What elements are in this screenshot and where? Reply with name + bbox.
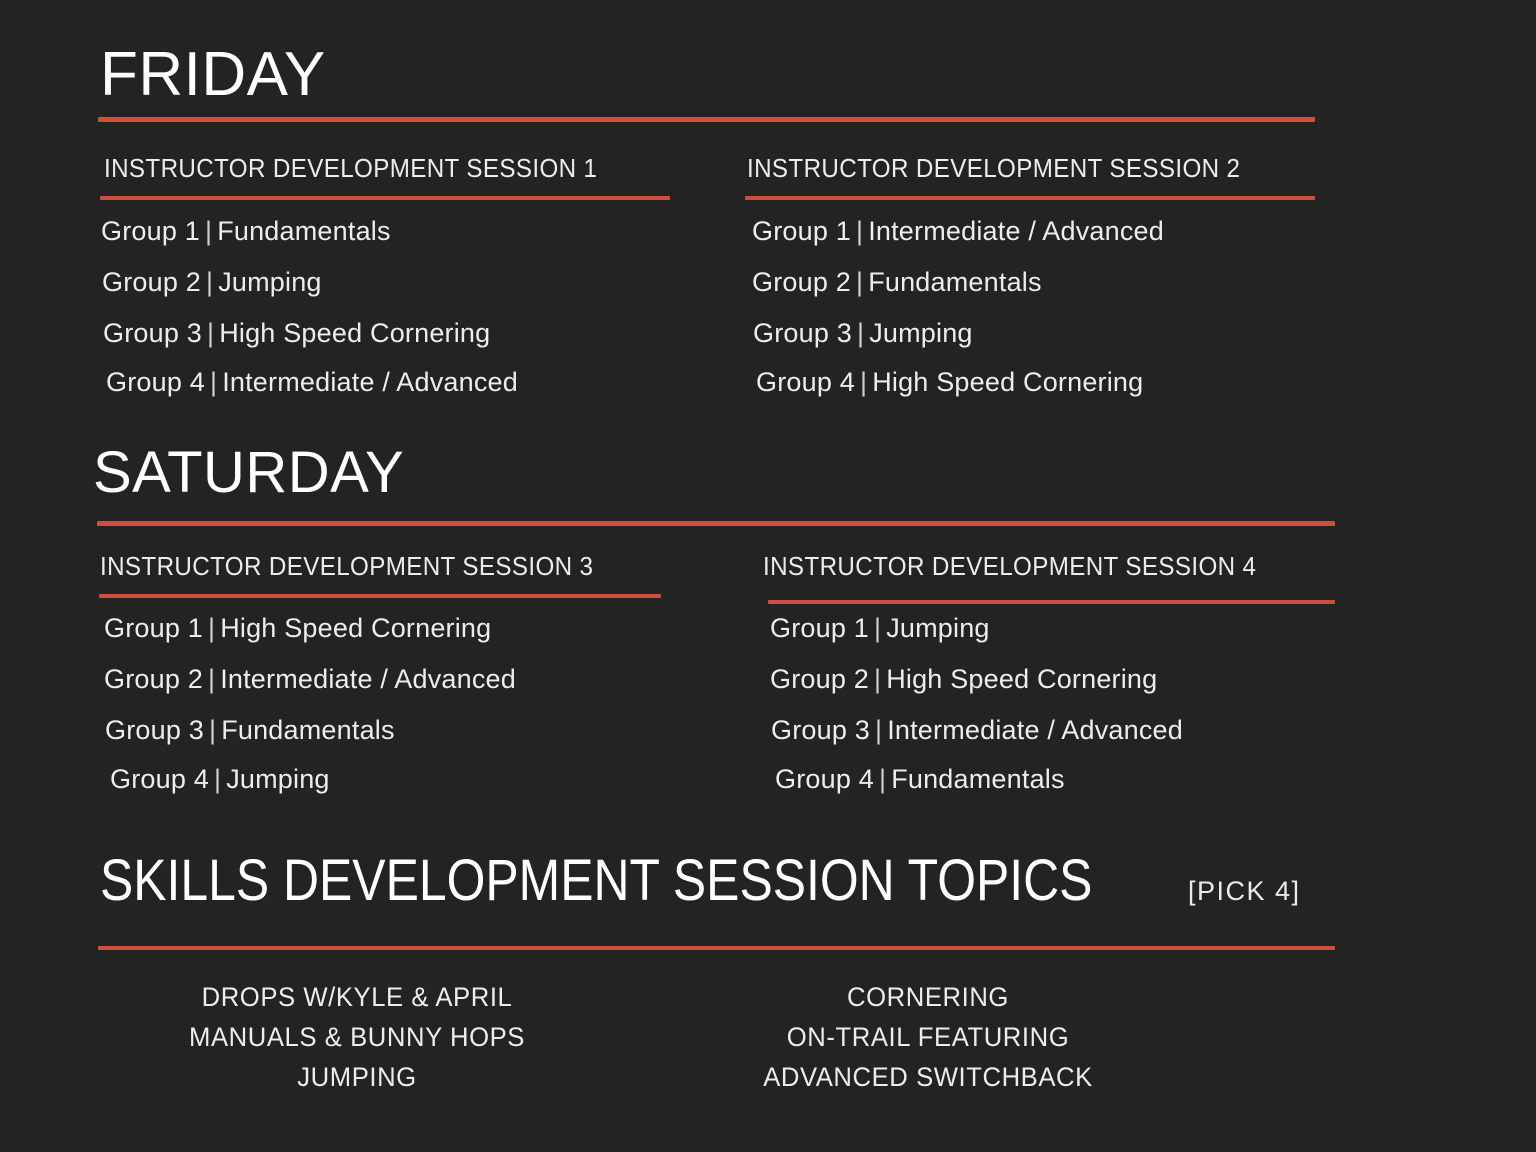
group-separator: | (869, 664, 886, 694)
session-divider-4 (768, 600, 1335, 604)
topic-item: ADVANCED SWITCHBACK (738, 1057, 1118, 1097)
session-title-1: INSTRUCTOR DEVELOPMENT SESSION 1 (104, 153, 597, 184)
group-separator: | (204, 715, 221, 745)
group-topic: Fundamentals (221, 715, 395, 745)
group-topic: Intermediate / Advanced (887, 715, 1183, 745)
group-row: Group 1|Intermediate / Advanced (752, 216, 1164, 247)
group-topic: Intermediate / Advanced (222, 367, 518, 397)
group-topic: High Speed Cornering (872, 367, 1143, 397)
group-label: Group 1 (101, 216, 200, 246)
group-row: Group 3|Intermediate / Advanced (771, 715, 1183, 746)
group-separator: | (874, 764, 891, 794)
skills-pick-note: [PICK 4] (1188, 878, 1301, 905)
topics-column-right: CORNERING ON-TRAIL FEATURING ADVANCED SW… (728, 977, 1128, 1097)
group-topic: Jumping (886, 613, 989, 643)
group-label: Group 3 (771, 715, 870, 745)
schedule-slide: FRIDAY INSTRUCTOR DEVELOPMENT SESSION 1 … (0, 0, 1536, 1152)
group-topic: Jumping (218, 267, 321, 297)
group-label: Group 2 (770, 664, 869, 694)
group-row: Group 4|Fundamentals (775, 764, 1065, 795)
group-separator: | (201, 267, 218, 297)
group-topic: Intermediate / Advanced (220, 664, 516, 694)
skills-header: SKILLS DEVELOPMENT SESSION TOPICS [PICK … (100, 852, 1301, 910)
topic-item: DROPS W/KYLE & APRIL (167, 977, 547, 1017)
group-topic: High Speed Cornering (886, 664, 1157, 694)
group-separator: | (209, 764, 226, 794)
group-separator: | (870, 715, 887, 745)
day-divider-friday (98, 117, 1315, 122)
group-label: Group 1 (752, 216, 851, 246)
topics-column-left: DROPS W/KYLE & APRIL MANUALS & BUNNY HOP… (157, 977, 557, 1097)
group-row: Group 1|Jumping (770, 613, 990, 644)
group-separator: | (851, 267, 868, 297)
group-topic: Fundamentals (217, 216, 391, 246)
group-separator: | (851, 216, 868, 246)
group-label: Group 4 (756, 367, 855, 397)
group-topic: Fundamentals (868, 267, 1042, 297)
session-title-3: INSTRUCTOR DEVELOPMENT SESSION 3 (100, 551, 593, 582)
group-topic: Jumping (226, 764, 329, 794)
group-label: Group 3 (105, 715, 204, 745)
group-label: Group 2 (104, 664, 203, 694)
topic-item: CORNERING (738, 977, 1118, 1017)
group-topic: Jumping (869, 318, 972, 348)
group-row: Group 2|Fundamentals (752, 267, 1042, 298)
group-row: Group 2|High Speed Cornering (770, 664, 1157, 695)
group-label: Group 2 (102, 267, 201, 297)
group-label: Group 4 (775, 764, 874, 794)
group-label: Group 3 (103, 318, 202, 348)
group-separator: | (203, 613, 220, 643)
group-topic: High Speed Cornering (219, 318, 490, 348)
group-topic: Fundamentals (891, 764, 1065, 794)
group-topic: High Speed Cornering (220, 613, 491, 643)
group-row: Group 1|Fundamentals (101, 216, 391, 247)
group-row: Group 4|High Speed Cornering (756, 367, 1143, 398)
session-divider-3 (99, 594, 661, 598)
group-label: Group 2 (752, 267, 851, 297)
topic-item: JUMPING (167, 1057, 547, 1097)
group-separator: | (202, 318, 219, 348)
group-row: Group 4|Intermediate / Advanced (106, 367, 518, 398)
day-title-friday: FRIDAY (100, 44, 326, 106)
group-separator: | (205, 367, 222, 397)
group-separator: | (200, 216, 217, 246)
group-label: Group 1 (104, 613, 203, 643)
day-title-saturday: SATURDAY (93, 444, 404, 502)
group-row: Group 2|Jumping (102, 267, 322, 298)
session-title-2: INSTRUCTOR DEVELOPMENT SESSION 2 (747, 153, 1240, 184)
session-divider-1 (100, 196, 670, 200)
group-label: Group 3 (753, 318, 852, 348)
group-separator: | (203, 664, 220, 694)
group-row: Group 2|Intermediate / Advanced (104, 664, 516, 695)
group-topic: Intermediate / Advanced (868, 216, 1164, 246)
group-label: Group 1 (770, 613, 869, 643)
group-label: Group 4 (106, 367, 205, 397)
group-separator: | (869, 613, 886, 643)
skills-title: SKILLS DEVELOPMENT SESSION TOPICS (100, 852, 1092, 910)
group-row: Group 3|Fundamentals (105, 715, 395, 746)
group-separator: | (855, 367, 872, 397)
session-divider-2 (745, 196, 1315, 200)
group-row: Group 3|Jumping (753, 318, 973, 349)
group-row: Group 4|Jumping (110, 764, 330, 795)
skills-divider (98, 946, 1335, 950)
topic-item: MANUALS & BUNNY HOPS (167, 1017, 547, 1057)
group-label: Group 4 (110, 764, 209, 794)
group-row: Group 1|High Speed Cornering (104, 613, 491, 644)
group-separator: | (852, 318, 869, 348)
session-title-4: INSTRUCTOR DEVELOPMENT SESSION 4 (763, 551, 1256, 582)
day-divider-saturday (97, 521, 1335, 526)
group-row: Group 3|High Speed Cornering (103, 318, 490, 349)
topic-item: ON-TRAIL FEATURING (738, 1017, 1118, 1057)
